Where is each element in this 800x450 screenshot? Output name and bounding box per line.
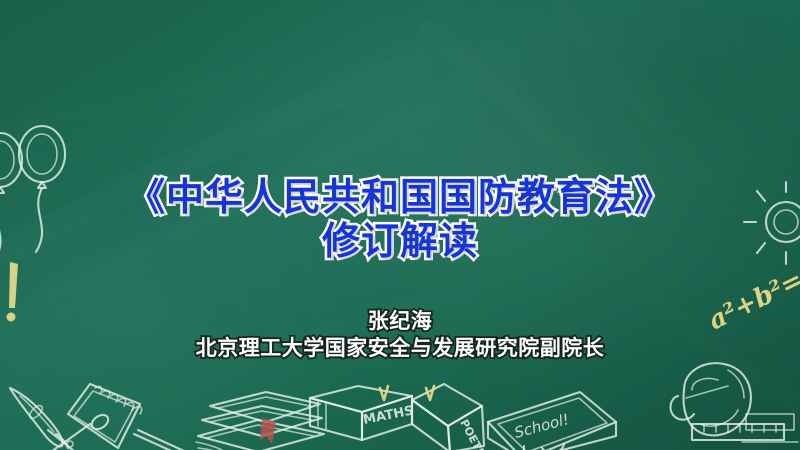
title-line-2: 修订解读 xyxy=(127,219,673,263)
presenter-block: 张纪海 北京理工大学国家安全与发展研究院副院长 xyxy=(196,308,605,363)
title-line-1: 《中华人民共和国国防教育法》 xyxy=(127,175,673,219)
slide-title: 《中华人民共和国国防教育法》 修订解读 xyxy=(127,175,673,263)
slide-text-stack: 《中华人民共和国国防教育法》 修订解读 张纪海 北京理工大学国家安全与发展研究院… xyxy=(0,0,800,450)
presenter-name: 张纪海 xyxy=(196,308,605,335)
lecture-title-slide: MATHS POETRY xyxy=(0,0,800,450)
presenter-affiliation: 北京理工大学国家安全与发展研究院副院长 xyxy=(196,335,605,362)
